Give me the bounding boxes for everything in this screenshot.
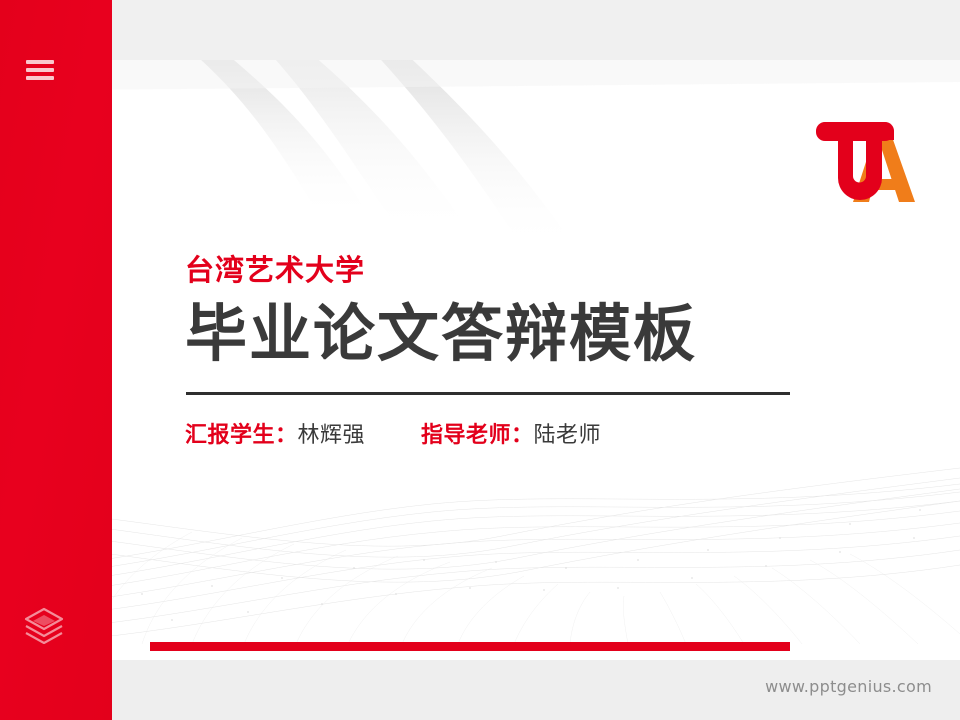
presenter-value: 林辉强 bbox=[298, 417, 366, 449]
layers-stack-icon[interactable] bbox=[22, 604, 66, 644]
tua-university-logo-icon bbox=[812, 110, 918, 210]
university-name: 台湾艺术大学 bbox=[185, 255, 825, 287]
advisor-label: 指导老师： bbox=[421, 417, 534, 449]
page-title: 毕业论文答辩模板 bbox=[185, 301, 825, 368]
hamburger-line bbox=[26, 68, 54, 72]
left-sidebar bbox=[0, 0, 112, 720]
meta-row: 汇报学生： 林辉强 指导老师： 陆老师 bbox=[185, 417, 825, 449]
title-block: 台湾艺术大学 毕业论文答辩模板 汇报学生： 林辉强 指导老师： 陆老师 bbox=[185, 255, 825, 449]
hamburger-menu-icon[interactable] bbox=[26, 58, 54, 82]
footer-bar: www.pptgenius.com bbox=[112, 660, 960, 720]
advisor-value: 陆老师 bbox=[534, 417, 602, 449]
hamburger-line bbox=[26, 60, 54, 64]
wireframe-mesh-decoration bbox=[72, 444, 960, 644]
slide-viewer: www.pptgenius.com bbox=[0, 0, 960, 720]
slide-canvas: 台湾艺术大学 毕业论文答辩模板 汇报学生： 林辉强 指导老师： 陆老师 bbox=[72, 60, 960, 660]
slide-accent-bar bbox=[150, 642, 790, 651]
hamburger-line bbox=[26, 76, 54, 80]
footer-url: www.pptgenius.com bbox=[765, 677, 932, 696]
presenter-label: 汇报学生： bbox=[185, 417, 298, 449]
title-divider bbox=[186, 392, 790, 395]
